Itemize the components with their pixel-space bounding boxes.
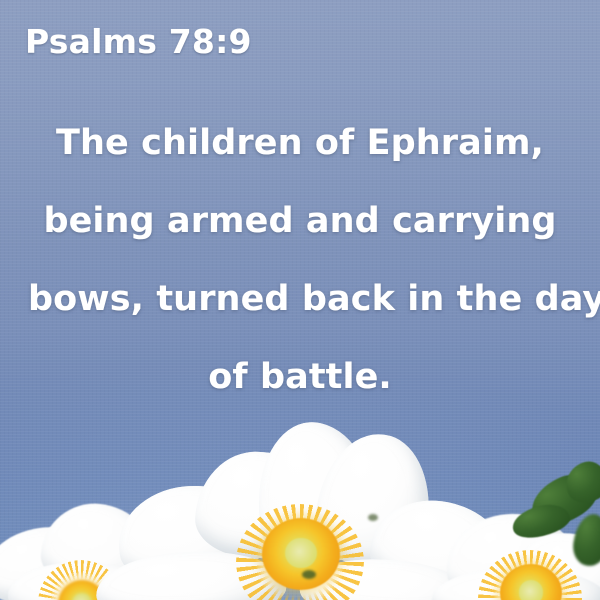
verse-line-3: bows, turned back in the day <box>28 260 572 338</box>
flower-cluster <box>0 410 600 600</box>
verse-line-2: being armed and carrying <box>28 182 572 260</box>
verse-image-canvas: Psalms 78:9 The children of Ephraim, bei… <box>0 0 600 600</box>
verse-line-4: of battle. <box>28 338 572 416</box>
verse-line-1: The children of Ephraim, <box>28 104 572 182</box>
flower-center-main <box>262 518 340 590</box>
verse-text-block: The children of Ephraim, being armed and… <box>28 104 572 416</box>
bud-speck-left <box>302 570 316 579</box>
verse-reference: Psalms 78:9 <box>25 22 252 61</box>
bud-speck-right <box>368 514 378 521</box>
